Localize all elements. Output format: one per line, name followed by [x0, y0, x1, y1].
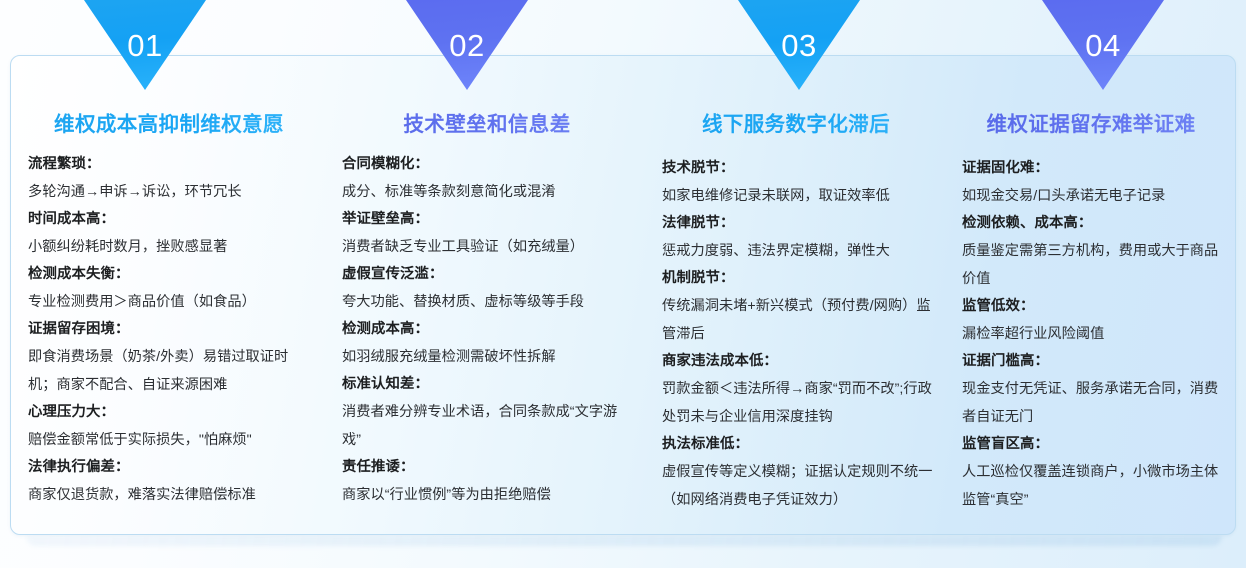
- item-body: 罚款金额＜违法所得→商家“罚而不改”;行政处罚未与企业信用深度挂钩: [662, 375, 936, 431]
- item-body: 传统漏洞未堵+新兴模式（预付费/网购）监管滞后: [662, 292, 936, 348]
- list-item: 虚假宣传泛滥： 夸大功能、替换材质、虚标等级等手段: [342, 261, 632, 316]
- column-items-02: 合同模糊化： 成分、标准等条款刻意简化或混淆 举证壁垒高： 消费者缺乏专业工具验…: [328, 151, 646, 509]
- item-body: 人工巡检仅覆盖连锁商户，小微市场主体监管“真空”: [962, 458, 1228, 514]
- item-heading: 责任推诿：: [342, 454, 632, 481]
- step-number-02: 02: [406, 30, 528, 61]
- list-item: 检测成本失衡： 专业检测费用＞商品价值（如食品）: [28, 261, 312, 316]
- item-body: 即食消费场景（奶茶/外卖）易错过取证时机；商家不配合、自证来源困难: [28, 343, 312, 399]
- column-title-01: 维权成本高抑制维权意愿: [10, 110, 328, 140]
- column-items-03: 技术脱节： 如家电维修记录未联网，取证效率低 法律脱节： 惩戒力度弱、违法界定模…: [646, 155, 946, 514]
- list-item: 心理压力大： 赔偿金额常低于实际损失，"怕麻烦": [28, 399, 312, 454]
- column-title-02: 技术壁垒和信息差: [328, 110, 646, 140]
- column-03: 线下服务数字化滞后 技术脱节： 如家电维修记录未联网，取证效率低 法律脱节： 惩…: [646, 55, 946, 535]
- item-body: 成分、标准等条款刻意简化或混淆: [342, 178, 632, 206]
- item-body: 夸大功能、替换材质、虚标等级等手段: [342, 288, 632, 316]
- list-item: 责任推诿： 商家以“行业惯例”等为由拒绝赔偿: [342, 454, 632, 509]
- item-body: 如羽绒服充绒量检测需破坏性拆解: [342, 343, 632, 371]
- item-body: 质量鉴定需第三方机构，费用或大于商品价值: [962, 237, 1228, 293]
- item-body: 商家以“行业惯例”等为由拒绝赔偿: [342, 481, 632, 509]
- infographic-stage: 维权成本高抑制维权意愿 流程繁琐： 多轮沟通→申诉→诉讼，环节冗长 时间成本高：…: [0, 0, 1246, 568]
- step-marker-02: 02: [406, 0, 528, 90]
- step-number-01: 01: [84, 30, 206, 61]
- column-02: 技术壁垒和信息差 合同模糊化： 成分、标准等条款刻意简化或混淆 举证壁垒高： 消…: [328, 55, 646, 535]
- item-heading: 法律脱节：: [662, 210, 936, 237]
- item-body: 多轮沟通→申诉→诉讼，环节冗长: [28, 178, 312, 206]
- item-heading: 证据门槛高：: [962, 348, 1228, 375]
- column-items-04: 证据固化难： 如现金交易/口头承诺无电子记录 检测依赖、成本高： 质量鉴定需第三…: [946, 155, 1236, 514]
- column-items-01: 流程繁琐： 多轮沟通→申诉→诉讼，环节冗长 时间成本高： 小额纠纷耗时数月，挫败…: [10, 151, 328, 509]
- item-body: 消费者缺乏专业工具验证（如充绒量）: [342, 233, 632, 261]
- list-item: 执法标准低： 虚假宣传等定义模糊；证据认定规则不统一（如网络消费电子凭证效力）: [662, 431, 936, 514]
- list-item: 流程繁琐： 多轮沟通→申诉→诉讼，环节冗长: [28, 151, 312, 206]
- item-body: 赔偿金额常低于实际损失，"怕麻烦": [28, 426, 312, 454]
- list-item: 检测成本高： 如羽绒服充绒量检测需破坏性拆解: [342, 316, 632, 371]
- item-heading: 合同模糊化：: [342, 151, 632, 178]
- item-body: 现金支付无凭证、服务承诺无合同，消费者自证无门: [962, 375, 1228, 431]
- item-heading: 执法标准低：: [662, 431, 936, 458]
- item-heading: 机制脱节：: [662, 265, 936, 292]
- item-body: 专业检测费用＞商品价值（如食品）: [28, 288, 312, 316]
- item-body: 小额纠纷耗时数月，挫败感显著: [28, 233, 312, 261]
- list-item: 时间成本高： 小额纠纷耗时数月，挫败感显著: [28, 206, 312, 261]
- item-heading: 证据固化难：: [962, 155, 1228, 182]
- item-heading: 时间成本高：: [28, 206, 312, 233]
- item-heading: 检测成本失衡：: [28, 261, 312, 288]
- item-body: 惩戒力度弱、违法界定模糊，弹性大: [662, 237, 936, 265]
- item-body: 商家仅退货款，难落实法律赔偿标准: [28, 481, 312, 509]
- item-heading: 检测成本高：: [342, 316, 632, 343]
- list-item: 技术脱节： 如家电维修记录未联网，取证效率低: [662, 155, 936, 210]
- card-drop-shadow: [26, 536, 1222, 546]
- item-body: 漏检率超行业风险阈值: [962, 320, 1228, 348]
- step-marker-01: 01: [84, 0, 206, 90]
- step-number-04: 04: [1042, 30, 1164, 61]
- column-title-03: 线下服务数字化滞后: [646, 110, 946, 140]
- list-item: 证据门槛高： 现金支付无凭证、服务承诺无合同，消费者自证无门: [962, 348, 1228, 431]
- item-body: 消费者难分辨专业术语，合同条款成“文字游戏”: [342, 398, 632, 454]
- item-body: 如家电维修记录未联网，取证效率低: [662, 182, 936, 210]
- list-item: 证据留存困境： 即食消费场景（奶茶/外卖）易错过取证时机；商家不配合、自证来源困…: [28, 316, 312, 399]
- item-heading: 标准认知差：: [342, 371, 632, 398]
- list-item: 检测依赖、成本高： 质量鉴定需第三方机构，费用或大于商品价值: [962, 210, 1228, 293]
- list-item: 合同模糊化： 成分、标准等条款刻意简化或混淆: [342, 151, 632, 206]
- item-heading: 心理压力大：: [28, 399, 312, 426]
- columns-container: 维权成本高抑制维权意愿 流程繁琐： 多轮沟通→申诉→诉讼，环节冗长 时间成本高：…: [10, 55, 1236, 535]
- list-item: 法律执行偏差： 商家仅退货款，难落实法律赔偿标准: [28, 454, 312, 509]
- list-item: 监管低效： 漏检率超行业风险阈值: [962, 293, 1228, 348]
- item-heading: 流程繁琐：: [28, 151, 312, 178]
- list-item: 举证壁垒高： 消费者缺乏专业工具验证（如充绒量）: [342, 206, 632, 261]
- item-heading: 监管低效：: [962, 293, 1228, 320]
- item-body: 如现金交易/口头承诺无电子记录: [962, 182, 1228, 210]
- item-heading: 法律执行偏差：: [28, 454, 312, 481]
- item-body: 虚假宣传等定义模糊；证据认定规则不统一（如网络消费电子凭证效力）: [662, 458, 936, 514]
- list-item: 监管盲区高： 人工巡检仅覆盖连锁商户，小微市场主体监管“真空”: [962, 431, 1228, 514]
- list-item: 法律脱节： 惩戒力度弱、违法界定模糊，弹性大: [662, 210, 936, 265]
- list-item: 机制脱节： 传统漏洞未堵+新兴模式（预付费/网购）监管滞后: [662, 265, 936, 348]
- step-marker-03: 03: [738, 0, 860, 90]
- item-heading: 监管盲区高：: [962, 431, 1228, 458]
- list-item: 标准认知差： 消费者难分辨专业术语，合同条款成“文字游戏”: [342, 371, 632, 454]
- item-heading: 虚假宣传泛滥：: [342, 261, 632, 288]
- item-heading: 检测依赖、成本高：: [962, 210, 1228, 237]
- step-marker-04: 04: [1042, 0, 1164, 90]
- item-heading: 商家违法成本低：: [662, 348, 936, 375]
- item-heading: 证据留存困境：: [28, 316, 312, 343]
- item-heading: 技术脱节：: [662, 155, 936, 182]
- list-item: 证据固化难： 如现金交易/口头承诺无电子记录: [962, 155, 1228, 210]
- item-heading: 举证壁垒高：: [342, 206, 632, 233]
- step-number-03: 03: [738, 30, 860, 61]
- column-04: 维权证据留存难举证难 证据固化难： 如现金交易/口头承诺无电子记录 检测依赖、成…: [946, 55, 1236, 535]
- column-title-04: 维权证据留存难举证难: [946, 110, 1236, 140]
- column-01: 维权成本高抑制维权意愿 流程繁琐： 多轮沟通→申诉→诉讼，环节冗长 时间成本高：…: [10, 55, 328, 535]
- list-item: 商家违法成本低： 罚款金额＜违法所得→商家“罚而不改”;行政处罚未与企业信用深度…: [662, 348, 936, 431]
